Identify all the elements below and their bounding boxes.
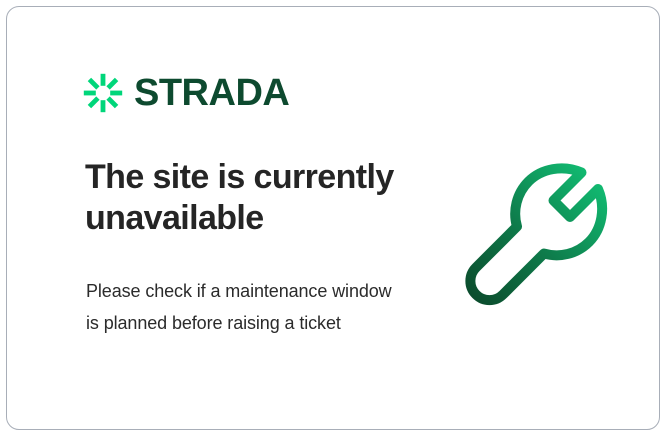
page-description: Please check if a maintenance window is … [86, 275, 396, 339]
brand-wordmark: STRADA [134, 74, 289, 112]
page-title: The site is currently unavailable [85, 157, 425, 240]
wrench-icon [459, 155, 619, 319]
status-card: STRADA The site is currently unavailable… [6, 6, 660, 430]
strada-asterisk-icon [83, 73, 123, 113]
brand-logo: STRADA [83, 73, 289, 113]
page-root: STRADA The site is currently unavailable… [0, 0, 666, 436]
